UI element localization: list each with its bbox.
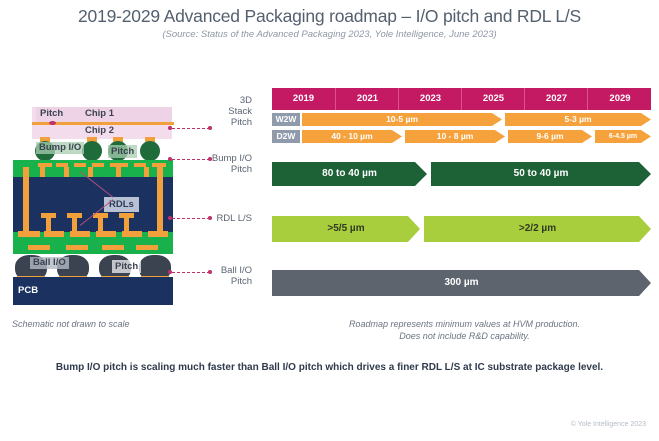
trace [136, 245, 158, 250]
row-label-line: Pitch [221, 276, 252, 287]
row-d2w: D2W 40 - 10 µm 10 - 8 µm 9-6 µm [272, 130, 651, 145]
row-label-line: Ball I/O [221, 265, 252, 276]
row-label-line: 3D [228, 95, 252, 106]
bump-ball [82, 141, 102, 161]
via [46, 217, 51, 231]
bar-label: 10-5 µm [302, 113, 502, 126]
row-ball-io: 300 µm [272, 270, 651, 300]
bar-d2w-2: 10 - 8 µm [405, 130, 505, 143]
year-cell-2021: 2021 [335, 88, 399, 110]
row-label-bump-io-pitch: Bump I/O Pitch [212, 153, 252, 175]
via [144, 167, 149, 177]
year-cell-2027: 2027 [524, 88, 588, 110]
trace [41, 213, 56, 218]
bar-d2w-1: 40 - 10 µm [302, 130, 402, 143]
trace [44, 231, 64, 237]
bar-w2w-1: 10-5 µm [302, 113, 502, 126]
leader-line [172, 159, 210, 161]
row-label-line: RDL L/S [216, 213, 252, 224]
via [116, 167, 121, 177]
leader-dot [168, 157, 172, 161]
package-schematic: Pitch Chip 1 Chip 2 Bump I/O Pitch [8, 105, 203, 310]
bar-label: >2/2 µm [424, 216, 651, 242]
copyright-notice: © Yole Intelligence 2023 [571, 421, 646, 428]
schematic-label-chip2: Chip 2 [85, 125, 114, 136]
roadmap-slide: 2019-2029 Advanced Packaging roadmap – I… [0, 0, 659, 441]
schematic-label-bump-io: Bump I/O [36, 142, 84, 154]
via [40, 167, 45, 177]
bar-d2w-3: 9-6 µm [508, 130, 592, 143]
page-subtitle: (Source: Status of the Advanced Packagin… [0, 29, 659, 40]
roadmap-note: Roadmap represents minimum values at HVM… [270, 318, 659, 342]
trace [122, 231, 142, 237]
schematic-label-pcb: PCB [18, 285, 38, 296]
via [72, 217, 77, 231]
via [124, 217, 129, 231]
leader-dot [208, 216, 212, 220]
year-cell-2025: 2025 [461, 88, 525, 110]
row-label-line: Pitch [212, 164, 252, 175]
roadmap-chart: 2019 2021 2023 2025 2027 2029 W2W 10-5 µ… [272, 88, 651, 300]
via [64, 167, 69, 177]
roadmap-note-line2: Does not include R&D capability. [270, 330, 659, 342]
roadmap-note-line1: Roadmap represents minimum values at HVM… [270, 318, 659, 330]
trace [70, 231, 90, 237]
leader-dot [168, 126, 172, 130]
bar-bump-2: 50 to 40 µm [431, 162, 651, 186]
schematic-label-ball-io: Ball I/O [30, 257, 69, 269]
via [98, 217, 103, 231]
trace [92, 163, 104, 167]
bar-label: 9-6 µm [508, 130, 592, 143]
row-rdl-ls: >5/5 µm >2/2 µm [272, 216, 651, 246]
leader-line [172, 218, 210, 220]
bar-label: 50 to 40 µm [431, 162, 651, 186]
bar-label: >5/5 µm [272, 216, 420, 242]
bump-ball [140, 141, 160, 161]
trace [96, 231, 116, 237]
leader-dot [168, 270, 172, 274]
year-cell-2029: 2029 [587, 88, 652, 110]
bar-label: 5-3 µm [505, 113, 651, 126]
trace [102, 245, 124, 250]
via [88, 167, 93, 177]
row-w2w: W2W 10-5 µm 5-3 µm [272, 113, 651, 128]
trace [66, 245, 88, 250]
summary-statement: Bump I/O pitch is scaling much faster th… [0, 362, 659, 373]
schematic-label-chip1: Chip 1 [85, 108, 114, 119]
row-bump-io: 80 to 40 µm 50 to 40 µm [272, 162, 651, 190]
bar-ball-1: 300 µm [272, 270, 651, 294]
bar-label: 10 - 8 µm [405, 130, 505, 143]
leader-line [172, 272, 210, 274]
year-cell-2019: 2019 [272, 88, 335, 110]
bar-label: 80 to 40 µm [272, 162, 427, 186]
leader-dot [208, 126, 212, 130]
bar-bump-1: 80 to 40 µm [272, 162, 427, 186]
bar-label: 300 µm [272, 270, 651, 296]
row-label-line: Pitch [228, 117, 252, 128]
leader-dot [168, 216, 172, 220]
trace [18, 231, 40, 237]
bar-rdl-1: >5/5 µm [272, 216, 420, 240]
row-label-line: Bump I/O [212, 153, 252, 164]
row-label-rdl-ls: RDL L/S [216, 213, 252, 224]
tag-w2w: W2W [272, 113, 300, 126]
bar-label: 40 - 10 µm [302, 130, 402, 143]
schematic-label-pitch-top: Pitch [40, 108, 63, 119]
trace [67, 213, 82, 218]
year-cell-2023: 2023 [398, 88, 462, 110]
row-label-line: Stack [228, 106, 252, 117]
trace [148, 231, 168, 237]
schematic-label-pitch-ball: Pitch [112, 260, 141, 273]
year-header-row: 2019 2021 2023 2025 2027 2029 [272, 88, 651, 110]
leader-dot [208, 157, 212, 161]
substrate-core [13, 177, 173, 237]
leader-dot [208, 270, 212, 274]
trace [119, 213, 134, 218]
bar-w2w-2: 5-3 µm [505, 113, 651, 126]
through-via [23, 167, 29, 237]
schematic-note: Schematic not drawn to scale [12, 319, 130, 329]
leader-line [172, 128, 210, 130]
schematic-label-pitch-bump: Pitch [108, 145, 137, 158]
schematic-label-rdls: RDLs [104, 197, 139, 212]
through-via [157, 167, 163, 237]
row-label-3d-stack-pitch: 3D Stack Pitch [228, 95, 252, 128]
trace [28, 245, 50, 250]
row-label-ball-io-pitch: Ball I/O Pitch [221, 265, 252, 287]
pitch-marker-dot [49, 121, 56, 125]
bar-rdl-2: >2/2 µm [424, 216, 651, 240]
page-title: 2019-2029 Advanced Packaging roadmap – I… [0, 6, 659, 27]
trace [74, 163, 86, 167]
tag-d2w: D2W [272, 130, 300, 143]
bar-label: 6-4.5 µm [595, 130, 651, 143]
bar-d2w-4: 6-4.5 µm [595, 130, 651, 143]
